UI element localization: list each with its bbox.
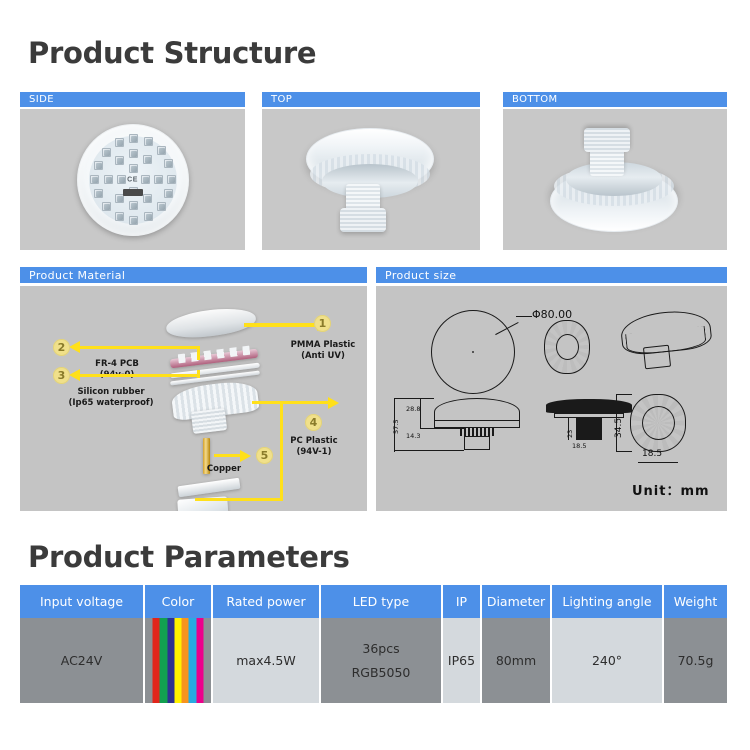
dim-thread-diameter-left: 18.5 (572, 442, 586, 450)
driver-chip (123, 189, 143, 196)
color-swatch (189, 618, 196, 703)
callout-number-3: 3 (53, 367, 70, 384)
table-column: LED type36pcsRGB5050 (321, 585, 443, 703)
table-value-cell: max4.5W (213, 618, 321, 703)
table-header-cell: IP (443, 585, 482, 618)
product-spec-sheet: Product Structure SIDE (0, 0, 750, 750)
table-header-cell: Color (145, 585, 213, 618)
dim-body-height: 28.8 (406, 405, 420, 413)
table-header-cell: LED type (321, 585, 443, 618)
table-value-line: 36pcs (352, 637, 411, 661)
lamp-bottom-view (540, 120, 690, 240)
callout-number-5: 5 (256, 447, 273, 464)
callout-label-5: Copper (194, 464, 254, 475)
table-column: Input voltageAC24V (20, 585, 145, 703)
caption-bar-product-material: Product Material (20, 267, 367, 283)
callout-label-3: Silicon rubber (Ip65 waterproof) (56, 387, 166, 408)
lamp-front-face: CE (77, 124, 189, 236)
table-value-cell (145, 618, 213, 703)
table-column: Color (145, 585, 213, 703)
part-contact-plate (178, 478, 241, 498)
table-header-cell: Input voltage (20, 585, 145, 618)
lamp-top-view (296, 120, 446, 240)
unit-note: Unit：mm (632, 480, 710, 499)
dim-thread-diameter: 18.5 (642, 449, 662, 459)
color-swatch (167, 618, 174, 703)
table-header-cell: Weight (664, 585, 727, 618)
photo-panel-side: CE (20, 109, 245, 250)
color-swatch-strip (153, 618, 204, 703)
caption-bar-bottom: BOTTOM (503, 92, 727, 107)
page-title-product-structure: Product Structure (28, 36, 316, 70)
caption-bar-product-size: Product size (376, 267, 727, 283)
dim-gear-height: 34.5 (614, 418, 624, 438)
table-column: Weight70.5g (664, 585, 727, 703)
dim-thread-height: 23 (566, 430, 574, 438)
color-swatch (182, 618, 189, 703)
table-column: Diameter80mm (482, 585, 552, 703)
part-pc-thread (191, 408, 227, 434)
table-value-cell: 80mm (482, 618, 552, 703)
photo-panel-top (262, 109, 480, 250)
callout-number-4: 4 (305, 414, 322, 431)
table-value-cell: AC24V (20, 618, 145, 703)
table-column: Lighting angle240° (552, 585, 664, 703)
table-value-cell: 70.5g (664, 618, 727, 703)
color-swatch (174, 618, 181, 703)
table-value-cell: 240° (552, 618, 664, 703)
panel-product-material: 1 PMMA Plastic (Anti UV) 2 FR-4 PCB (94v… (20, 286, 367, 511)
callout-number-2: 2 (53, 339, 70, 356)
table-value-line: RGB5050 (352, 661, 411, 685)
page-title-product-parameters: Product Parameters (28, 540, 350, 574)
table-value-cell: IP65 (443, 618, 482, 703)
parameters-table: Input voltageAC24VColorRated powermax4.5… (20, 585, 727, 703)
color-swatch (196, 618, 203, 703)
color-swatch (153, 618, 160, 703)
table-value-cell: 36pcsRGB5050 (321, 618, 443, 703)
dim-overall-height: 57.5 (392, 420, 400, 434)
table-column: IPIP65 (443, 585, 482, 703)
photo-panel-bottom (503, 109, 727, 250)
callout-number-1: 1 (314, 315, 331, 332)
table-header-cell: Lighting angle (552, 585, 664, 618)
caption-bar-top: TOP (262, 92, 480, 107)
callout-label-2: FR-4 PCB (94v-0) (75, 359, 159, 380)
elevation-filled-view (546, 399, 632, 413)
callout-label-1: PMMA Plastic (Anti UV) (282, 340, 364, 361)
panel-product-size: Φ80.00 57.5 28.8 14.3 23 18.5 (376, 286, 727, 511)
caption-bar-side: SIDE (20, 92, 245, 107)
table-column: Rated powermax4.5W (213, 585, 321, 703)
table-header-cell: Diameter (482, 585, 552, 618)
table-header-cell: Rated power (213, 585, 321, 618)
ce-mark-label: CE (127, 176, 138, 183)
dim-base-height: 14.3 (406, 432, 420, 440)
callout-label-4: PC Plastic (94V-1) (278, 436, 350, 457)
color-swatch (160, 618, 167, 703)
